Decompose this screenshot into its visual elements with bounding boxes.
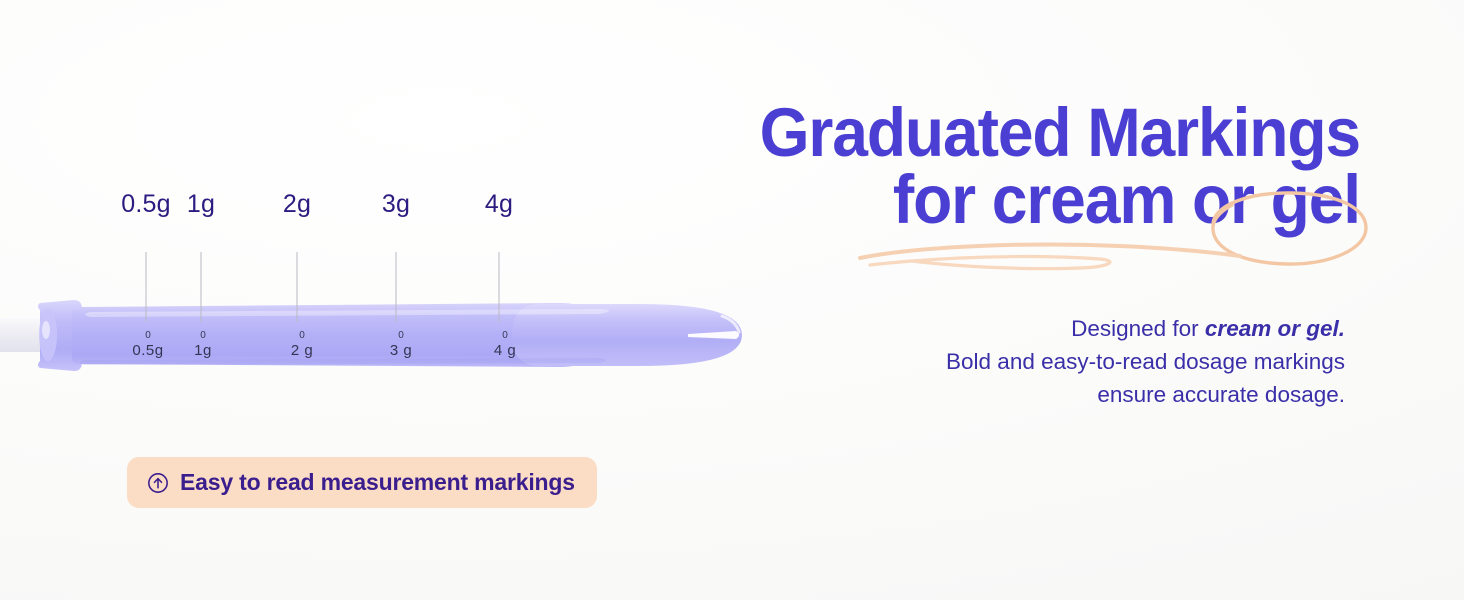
tube-mark-4: 0 4 g <box>494 331 516 358</box>
tube-tick-1: 0 <box>194 331 212 341</box>
body-line-3: ensure accurate dosage. <box>840 378 1345 411</box>
promo-banner: 0.5g 1g 2g 3g 4g 0 0.5g 0 1g 0 2 g 0 3 g… <box>0 0 1464 600</box>
callout-line-1 <box>201 252 202 322</box>
callout-line-4 <box>499 252 500 322</box>
callout-line-0 <box>146 252 147 322</box>
flange-highlight <box>42 321 50 339</box>
tube-mark-1: 0 1g <box>194 331 212 358</box>
callout-label-2: 2g <box>283 190 311 219</box>
underline-swoosh-upper <box>860 245 1240 259</box>
tube-tick-3: 0 <box>390 331 412 341</box>
feature-badge-label: Easy to read measurement markings <box>180 469 575 496</box>
callout-line-3 <box>396 252 397 322</box>
tube-value-1: 1g <box>194 343 212 358</box>
circle-arrow-up-icon <box>147 472 169 494</box>
body-line-2: Bold and easy-to-read dosage markings <box>840 345 1345 378</box>
callout-label-4: 4g <box>485 190 513 219</box>
tube-mark-0: 0 0.5g <box>132 331 163 358</box>
callout-label-3: 3g <box>382 190 410 219</box>
tube-value-3: 3 g <box>390 343 412 358</box>
tube-tick-0: 0 <box>132 331 163 341</box>
body-line-1: Designed for cream or gel. <box>840 312 1345 345</box>
tube-value-2: 2 g <box>291 343 313 358</box>
body-copy: Designed for cream or gel. Bold and easy… <box>840 312 1345 411</box>
body-line-1-emphasis: cream or gel. <box>1205 316 1345 341</box>
tube-tick-4: 0 <box>494 331 516 341</box>
underline-swoosh-lower <box>870 257 1110 269</box>
tube-tick-2: 0 <box>291 331 313 341</box>
tube-value-0: 0.5g <box>132 343 163 358</box>
feature-badge[interactable]: Easy to read measurement markings <box>127 457 597 508</box>
body-line-1-prefix: Designed for <box>1071 316 1205 341</box>
headline-block: Graduated Markings for cream or gel <box>560 100 1360 234</box>
tube-mark-2: 0 2 g <box>291 331 313 358</box>
tube-mark-3: 0 3 g <box>390 331 412 358</box>
callout-label-1: 1g <box>187 190 215 219</box>
callout-line-2 <box>297 252 298 322</box>
headline-line-1: Graduated Markings <box>616 100 1360 167</box>
tube-value-4: 4 g <box>494 343 516 358</box>
headline-line-2: for cream or gel <box>616 167 1360 234</box>
callout-label-0: 0.5g <box>121 190 170 219</box>
